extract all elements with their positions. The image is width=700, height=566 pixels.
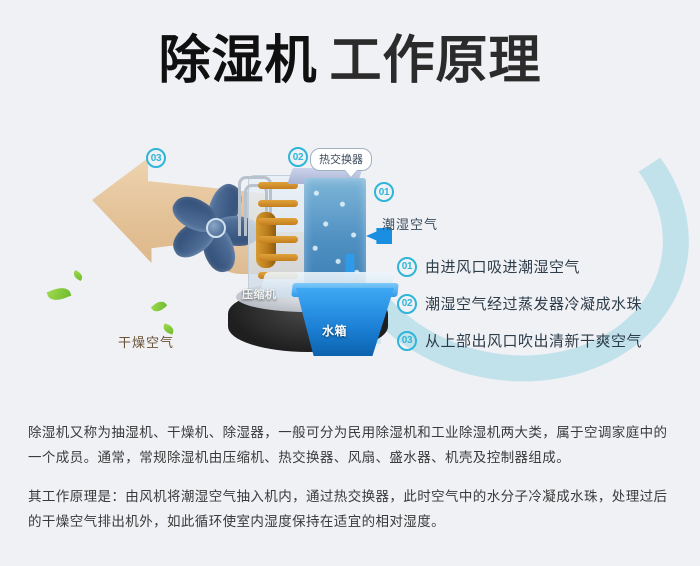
condenser-coil — [258, 200, 298, 207]
dry-air-label: 干燥空气 — [118, 332, 174, 351]
step-item-02: 02 潮湿空气经过蒸发器冷凝成水珠 — [397, 293, 687, 314]
description-paragraph-1: 除湿机又称为抽湿机、干燥机、除湿器，一般可分为民用除湿机和工业除湿机两大类，属于… — [28, 420, 676, 470]
step-badge-02: 02 — [397, 294, 417, 314]
leaf-icon — [151, 299, 168, 315]
description-block: 除湿机又称为抽湿机、干燥机、除湿器，一般可分为民用除湿机和工业除湿机两大类，属于… — [28, 420, 676, 534]
compressor-label: 压缩机 — [242, 286, 277, 302]
water-tank-label: 水箱 — [322, 322, 347, 339]
title-part-primary: 除湿机 — [158, 32, 317, 90]
step-item-01: 01 由进风口吸进潮湿空气 — [397, 256, 687, 277]
step-list: 01 由进风口吸进潮湿空气 02 潮湿空气经过蒸发器冷凝成水珠 03 从上部出风… — [397, 256, 687, 367]
step-text-02: 潮湿空气经过蒸发器冷凝成水珠 — [425, 293, 642, 314]
step-badge-03: 03 — [397, 331, 417, 351]
step-text-01: 由进风口吸进潮湿空气 — [425, 256, 580, 277]
description-paragraph-2: 其工作原理是：由风机将潮湿空气抽入机内，通过热交换器，此时空气中的水分子冷凝成水… — [28, 484, 676, 534]
step-text-03: 从上部出风口吹出清新干爽空气 — [425, 330, 642, 351]
humid-air-label: 潮湿空气 — [382, 214, 438, 233]
badge-01-humid-air: 01 — [374, 182, 394, 202]
leaf-icon — [72, 270, 84, 281]
page-title: 除湿机工作原理 — [0, 30, 700, 92]
condenser-coil — [258, 236, 298, 243]
condenser-coil — [258, 254, 298, 261]
step-badge-01: 01 — [397, 257, 417, 277]
leaf-icon — [47, 284, 72, 303]
condenser-coil — [258, 218, 298, 225]
badge-03-dry-air: 03 — [146, 148, 166, 168]
step-item-03: 03 从上部出风口吹出清新干爽空气 — [397, 330, 687, 351]
badge-02-heat-exchanger: 02 — [288, 147, 308, 167]
heat-exchanger-callout: 热交换器 — [310, 148, 372, 171]
fan-hub — [206, 218, 226, 238]
